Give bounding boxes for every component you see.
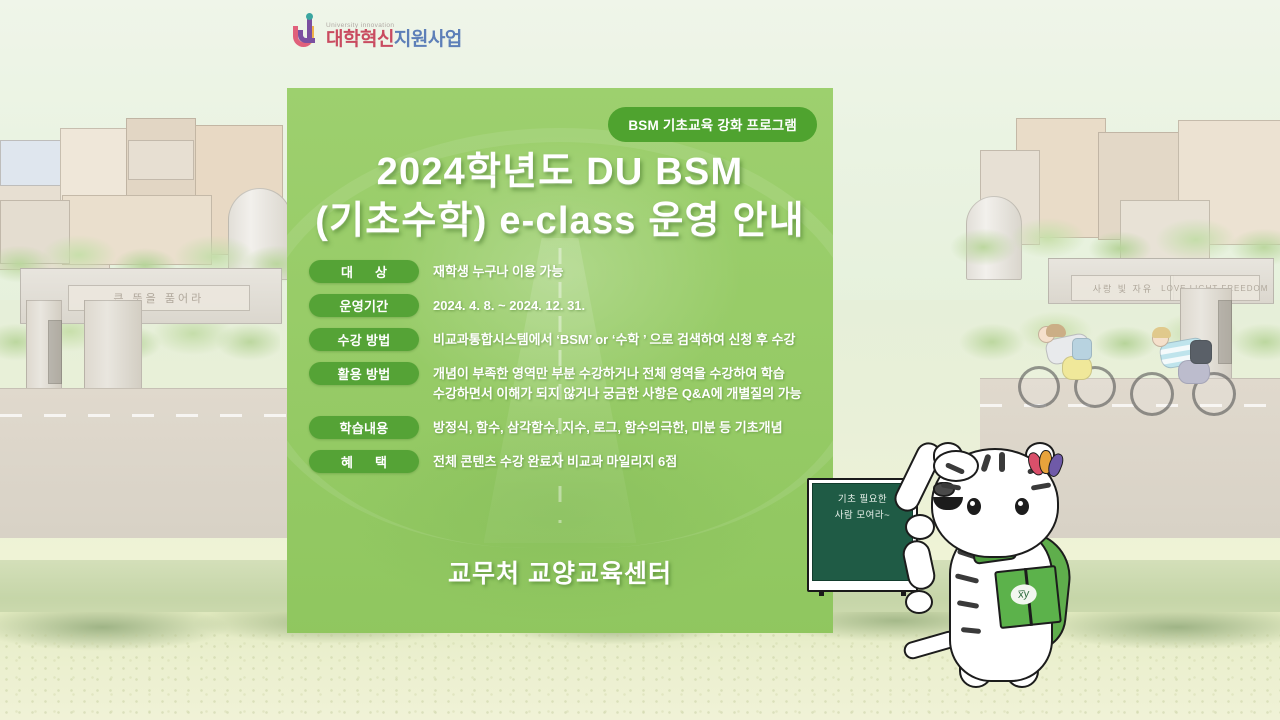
info-label-target: 대 상	[309, 260, 419, 283]
info-text-target: 재학생 누구나 이용 가능	[433, 260, 563, 282]
poster-title: 2024학년도 DU BSM (기초수학) e-class 운영 안내	[287, 148, 833, 245]
info-row-benefit: 혜 택 전체 콘텐츠 수강 완료자 비교과 마일리지 6점	[309, 450, 819, 473]
info-rows: 대 상 재학생 누구나 이용 가능 운영기간 2024. 4. 8. ~ 202…	[309, 260, 819, 484]
info-text-usage-line-1: 개념이 부족한 영역만 부분 수강하거나 전체 영역을 수강하여 학습	[433, 364, 802, 384]
logo-english-text: University innovation	[326, 22, 462, 29]
info-row-usage-method: 활용 방법 개념이 부족한 영역만 부분 수강하거나 전체 영역을 수강하여 학…	[309, 362, 819, 404]
rider-backpack	[1190, 340, 1212, 364]
info-label-benefit-a: 혜	[341, 452, 353, 471]
logo-mark-icon	[293, 17, 321, 49]
poster-title-line-2: (기초수학) e-class 운영 안내	[287, 197, 833, 246]
rider-backpack	[1072, 338, 1092, 360]
road-stripe	[0, 414, 290, 417]
info-row-period: 운영기간 2024. 4. 8. ~ 2024. 12. 31.	[309, 294, 819, 317]
info-row-enroll-method: 수강 방법 비교과통합시스템에서 ‘BSM’ or ‘수학 ’ 으로 검색하여 …	[309, 328, 819, 351]
bike-wheel	[1130, 372, 1174, 416]
info-row-target: 대 상 재학생 누구나 이용 가능	[309, 260, 819, 283]
info-label-contents: 학습내용	[309, 416, 419, 439]
rider-hair	[1152, 327, 1171, 338]
info-label-enroll-method: 수강 방법	[309, 328, 419, 351]
tiger-raised-paw	[905, 514, 935, 540]
gate-right-sign-kr: 사랑 빛 자유	[1071, 275, 1174, 301]
info-text-usage-method: 개념이 부족한 영역만 부분 수강하거나 전체 영역을 수강하여 학습 수강하면…	[433, 362, 802, 404]
info-label-usage-method: 활용 방법	[309, 362, 419, 385]
tiger-plume	[1029, 450, 1063, 480]
info-text-contents: 방정식, 함수, 삼각함수, 지수, 로그, 함수의극한, 미분 등 기초개념	[433, 416, 783, 438]
info-label-period: 운영기간	[309, 294, 419, 317]
tiger-head-stripe	[1031, 482, 1052, 490]
bike-wheel	[1018, 366, 1060, 408]
tiger-eye	[967, 498, 981, 515]
info-label-target-a: 대	[341, 262, 353, 281]
tiger-mouth	[933, 497, 963, 510]
tiger-forehead-stripe	[980, 454, 991, 473]
logo-korean-part-b: 지원사업	[394, 29, 462, 50]
tiger-book-symbol: x̅y	[1010, 583, 1038, 606]
campus-gate-right: 사랑 빛 자유 LOVE LIGHT FREEDOM	[1048, 258, 1274, 304]
tiger-body-stripe	[955, 573, 979, 584]
rider-hair	[1046, 324, 1066, 337]
gate-pillar	[84, 300, 142, 390]
blackboard-leg	[819, 590, 824, 596]
gate-banner	[48, 320, 62, 384]
info-text-enroll-method: 비교과통합시스템에서 ‘BSM’ or ‘수학 ’ 으로 검색하여 신청 후 수…	[433, 328, 796, 350]
tiger-forehead-stripe	[999, 452, 1005, 472]
info-label-target-b: 상	[375, 262, 387, 281]
university-innovation-logo: University innovation 대학혁신지원사업	[293, 17, 462, 49]
tiger-book-paw	[905, 590, 933, 614]
info-label-benefit-b: 택	[375, 452, 387, 471]
program-badge: BSM 기초교육 강화 프로그램	[608, 107, 817, 142]
cyclist-right	[1128, 326, 1248, 426]
tiger-holding-arm	[900, 538, 938, 593]
tiger-body-stripe	[957, 600, 980, 609]
poster-footer: 교무처 교양교육센터	[287, 554, 833, 590]
tiger-eye	[1015, 498, 1029, 515]
logo-text: University innovation 대학혁신지원사업	[326, 22, 462, 49]
info-text-benefit: 전체 콘텐츠 수강 완료자 비교과 마일리지 6점	[433, 450, 677, 472]
cyclist-left	[1016, 322, 1126, 418]
road	[0, 388, 300, 538]
tiger-mascot: x̅y	[905, 440, 1120, 710]
tiger-book: x̅y	[994, 565, 1062, 629]
logo-korean-text: 대학혁신지원사업	[326, 30, 462, 49]
logo-dot	[306, 13, 313, 20]
info-row-contents: 학습내용 방정식, 함수, 삼각함수, 지수, 로그, 함수의극한, 미분 등 …	[309, 416, 819, 439]
poster-title-line-1: 2024학년도 DU BSM	[287, 148, 833, 197]
building	[128, 140, 194, 180]
info-text-usage-line-2: 수강하면서 이해가 되지 않거나 궁금한 사항은 Q&A에 개별질의 가능	[433, 384, 802, 404]
logo-j-shape	[307, 17, 312, 43]
info-label-benefit: 혜 택	[309, 450, 419, 473]
tiger-body-stripe	[961, 627, 981, 634]
info-text-period: 2024. 4. 8. ~ 2024. 12. 31.	[433, 294, 585, 316]
poster-panel: BSM 기초교육 강화 프로그램 2024학년도 DU BSM (기초수학) e…	[287, 88, 833, 633]
logo-korean-part-a: 대학혁신	[326, 29, 394, 50]
blackboard-line-2: 사람 모여라~	[813, 508, 912, 524]
